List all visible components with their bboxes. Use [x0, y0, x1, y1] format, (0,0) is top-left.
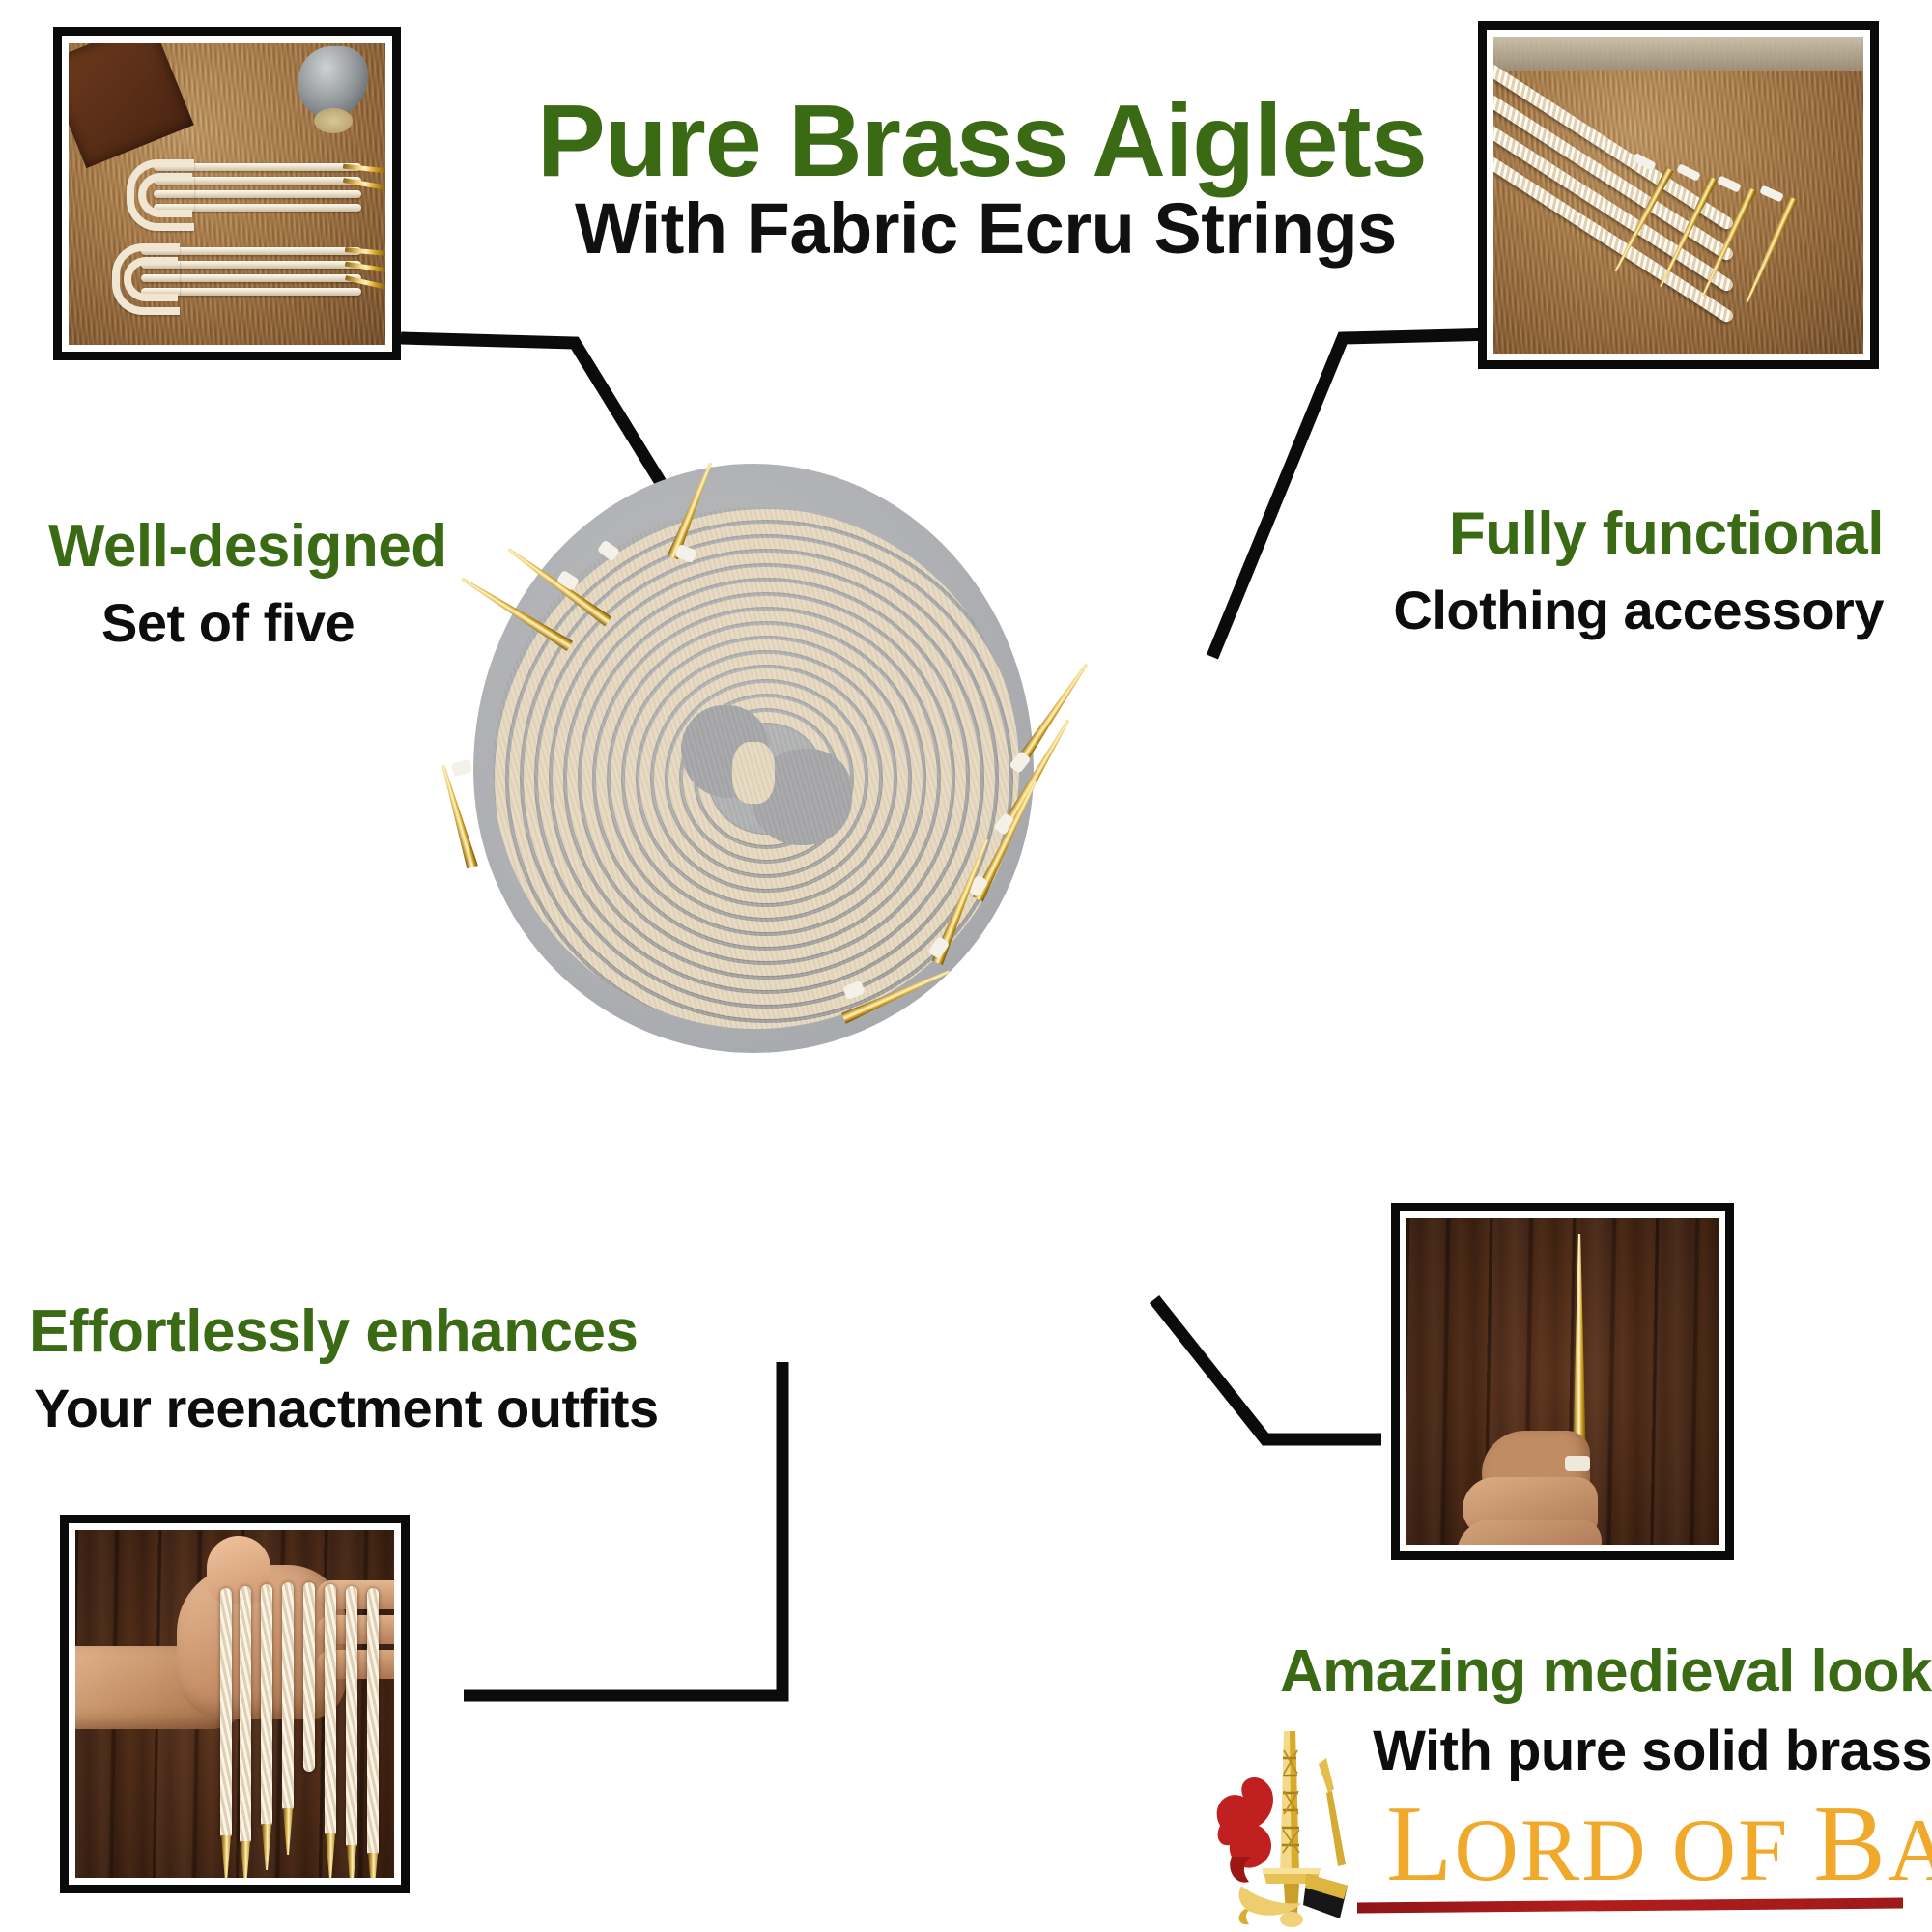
brand-word-two-rest: ATTLES — [1888, 1801, 1932, 1899]
brand-word-of: OF — [1672, 1801, 1790, 1899]
wood-plank-edge — [1493, 37, 1863, 71]
whipping-thread — [1565, 1456, 1590, 1471]
connector-spacer — [1125, 1328, 1406, 1335]
callout-subtitle-well-designed: Set of five — [101, 596, 447, 650]
photo-fur-background — [69, 43, 385, 345]
wood-chest-corner — [69, 43, 194, 168]
callout-text-well-designed: Well-designed Set of five — [48, 517, 447, 650]
callout-photo-amazing-medieval-look[interactable] — [1391, 1203, 1734, 1560]
connector-bottom-right — [1154, 1299, 1381, 1439]
brand-word-one-rest: ORD — [1454, 1801, 1647, 1899]
brand-logo[interactable]: LORD OF BATTLES — [1203, 1782, 1922, 1927]
brand-wordmark: LORD OF BATTLES — [1386, 1790, 1932, 1898]
middle-finger — [1457, 1520, 1602, 1545]
aiglet-large — [1573, 1234, 1586, 1465]
callout-title-fully-functional: Fully functional — [1121, 504, 1884, 564]
small-disc — [314, 108, 353, 133]
brand-word-two-cap: B — [1813, 1784, 1888, 1904]
callout-title-amazing-medieval-look: Amazing medieval look — [1159, 1642, 1932, 1702]
callout-photo-effortlessly-enhances[interactable] — [60, 1515, 410, 1893]
callout-title-effortlessly-enhances: Effortlessly enhances — [29, 1302, 659, 1362]
callout-text-fully-functional: Fully functional Clothing accessory — [1121, 504, 1884, 638]
feather-bundle — [298, 46, 368, 118]
callout-text-effortlessly-enhances: Effortlessly enhances Your reenactment o… — [29, 1302, 659, 1435]
photo-mat — [62, 36, 392, 352]
callout-subtitle-effortlessly-enhances: Your reenactment outfits — [34, 1381, 659, 1435]
callout-photo-well-designed[interactable] — [53, 27, 401, 360]
brand-word-one-cap: L — [1386, 1784, 1454, 1904]
photo-mat — [1487, 30, 1870, 360]
page-subtitle: With Fabric Ecru Strings — [575, 193, 1397, 265]
photo-fur-background — [1493, 37, 1863, 354]
hero-product-image[interactable] — [454, 454, 1053, 1072]
cord-bend-upper-2 — [138, 173, 192, 217]
photo-mat — [69, 1523, 401, 1885]
infographic-canvas: Pure Brass Aiglets With Fabric Ecru Stri… — [0, 0, 1932, 1932]
whipping-thread — [450, 759, 472, 778]
photo-wood-background — [1406, 1218, 1719, 1545]
cord-bend-lower-2 — [124, 257, 178, 301]
photo-wood-background — [75, 1530, 394, 1878]
page-title: Pure Brass Aiglets — [537, 90, 1427, 192]
callout-subtitle-fully-functional: Clothing accessory — [1121, 583, 1884, 638]
aiglet — [438, 763, 478, 868]
callout-photo-fully-functional[interactable] — [1478, 21, 1879, 369]
sword-emblem-icon — [1203, 1729, 1381, 1927]
callout-title-well-designed: Well-designed — [48, 517, 447, 577]
photo-mat — [1400, 1211, 1725, 1551]
